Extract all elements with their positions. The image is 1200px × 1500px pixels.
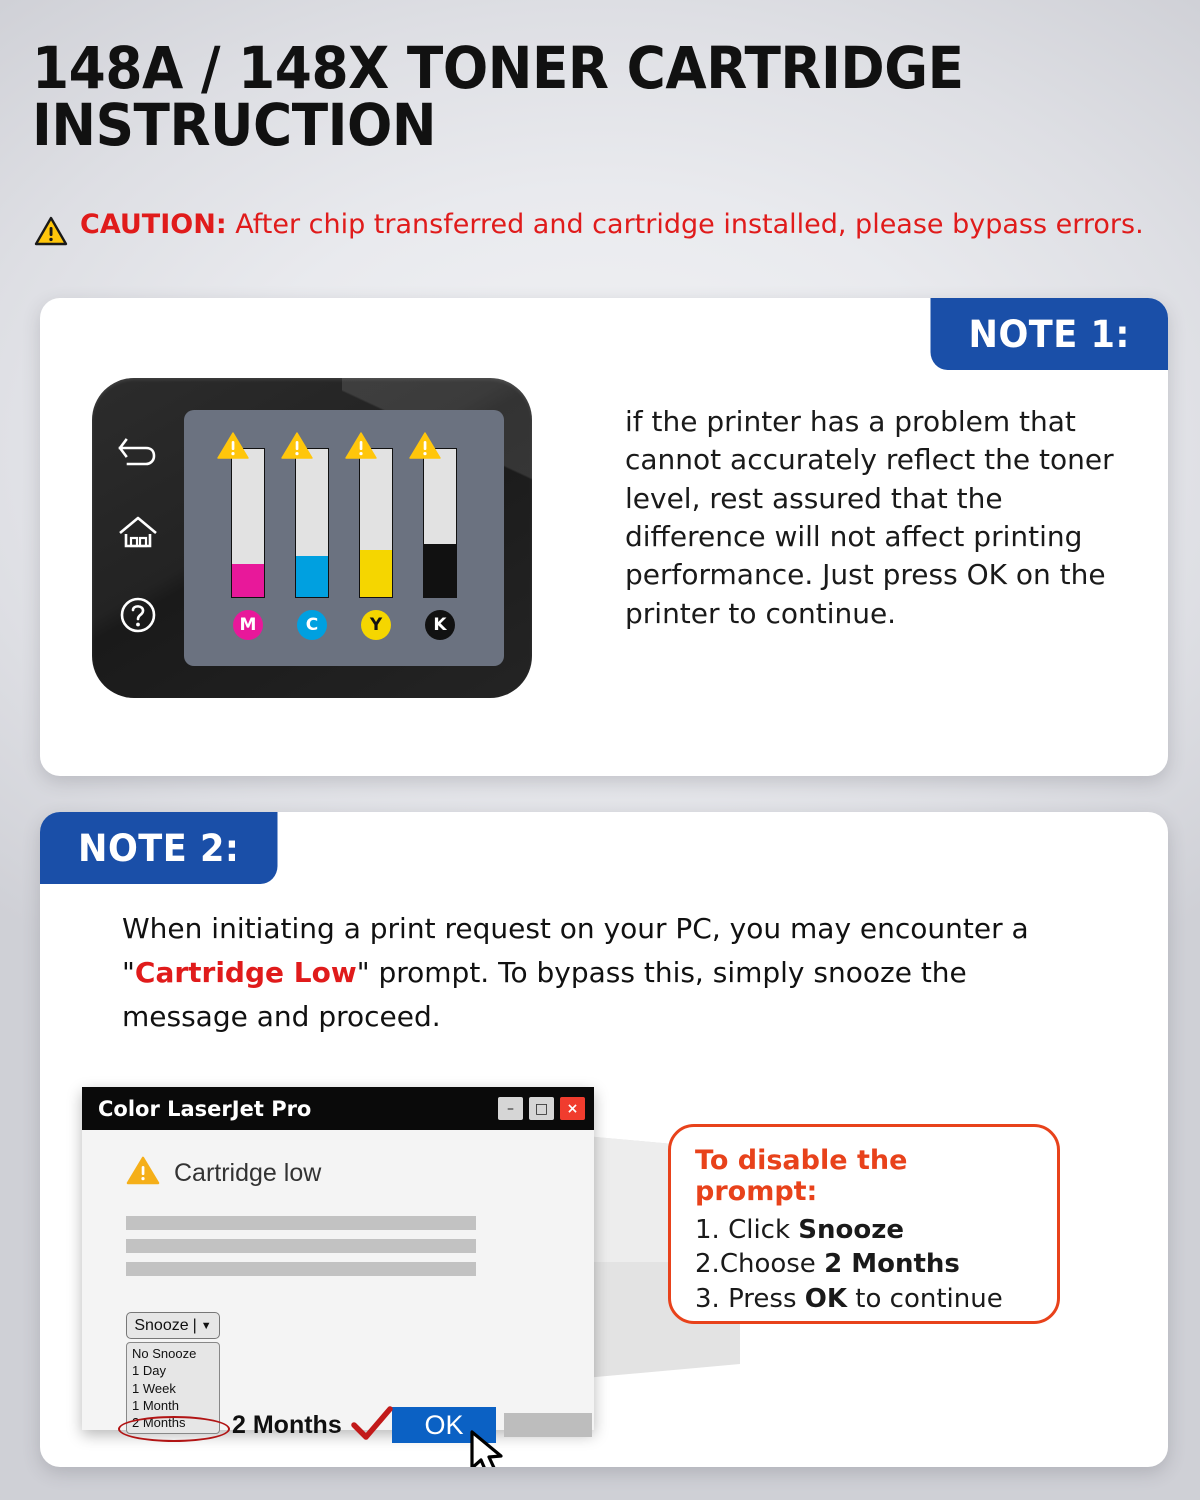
callout-step-2: 2.Choose 2 Months	[695, 1247, 1033, 1281]
callout-step-1: 1. Click Snooze	[695, 1213, 1033, 1247]
placeholder-line	[126, 1262, 476, 1276]
printer-screen: M C	[184, 410, 504, 666]
toner-label-dot: Y	[361, 610, 391, 640]
alert-text: Cartridge low	[174, 1159, 321, 1188]
home-icon[interactable]	[116, 513, 160, 557]
step-emphasis: 2 Months	[824, 1249, 960, 1279]
back-icon[interactable]	[116, 436, 160, 476]
toner-gauge-row: M C	[184, 410, 504, 666]
toner-gauge-yellow: Y	[355, 448, 397, 640]
cartridge-low-dialog: Color LaserJet Pro – □ × Cartridge low	[82, 1087, 594, 1430]
selection-highlight-ellipse	[118, 1416, 230, 1442]
note-1-card: NOTE 1:	[40, 298, 1168, 776]
chevron-down-icon: ▼	[201, 1320, 212, 1332]
printer-control-panel: M C	[92, 378, 532, 698]
caution-banner: CAUTION: After chip transferred and cart…	[34, 210, 1164, 250]
toner-code: C	[306, 615, 318, 635]
dialog-title: Color LaserJet Pro	[98, 1097, 492, 1121]
minimize-icon[interactable]: –	[498, 1097, 523, 1120]
placeholder-line	[126, 1239, 476, 1253]
check-mark-icon	[350, 1406, 394, 1448]
toner-code: K	[433, 615, 446, 635]
note-2-card: NOTE 2: When initiating a print request …	[40, 812, 1168, 1467]
placeholder-text-block	[104, 1216, 572, 1276]
placeholder-line	[126, 1216, 476, 1230]
step-emphasis: OK	[805, 1284, 847, 1314]
toner-level-fill	[232, 564, 264, 597]
toner-label-dot: C	[297, 610, 327, 640]
cartridge-low-highlight: Cartridge Low	[135, 956, 357, 989]
page-header: 148A / 148X TONER CARTRIDGE INSTRUCTION	[32, 40, 1172, 154]
maximize-icon[interactable]: □	[529, 1097, 554, 1120]
toner-label-dot: M	[233, 610, 263, 640]
caution-text: CAUTION: After chip transferred and cart…	[80, 210, 1144, 240]
note-1-badge: NOTE 1:	[931, 298, 1169, 370]
toner-gauge-black: K	[419, 448, 461, 640]
toner-gauge-magenta: M	[227, 448, 269, 640]
warning-triangle-icon	[408, 431, 442, 465]
snooze-option-1-week[interactable]: 1 Week	[127, 1380, 219, 1397]
toner-level-fill	[360, 550, 392, 597]
note-2-body-text: When initiating a print request on your …	[122, 907, 1042, 1040]
help-icon[interactable]	[117, 594, 159, 640]
snooze-option-no-snooze[interactable]: No Snooze	[127, 1345, 219, 1362]
step-text: Click	[728, 1215, 798, 1245]
dialog-body: Cartridge low Snooze | ▼ No Snooze 1 Day…	[82, 1130, 594, 1430]
toner-bar	[423, 448, 457, 598]
note-1-body-text: if the printer has a problem that cannot…	[625, 403, 1125, 633]
toner-gauge-cyan: C	[291, 448, 333, 640]
step-text: Press	[728, 1284, 805, 1314]
note-2-badge: NOTE 2:	[40, 812, 278, 884]
step-text: Choose	[720, 1249, 824, 1279]
selected-option-annotation: 2 Months	[232, 1411, 342, 1440]
snooze-dropdown-button[interactable]: Snooze | ▼	[126, 1312, 220, 1339]
caution-body: After chip transferred and cartridge ins…	[227, 209, 1144, 240]
secondary-button-placeholder[interactable]	[504, 1413, 592, 1437]
dialog-titlebar: Color LaserJet Pro – □ ×	[82, 1087, 594, 1130]
step-number: 3.	[695, 1284, 728, 1314]
toner-level-fill	[424, 544, 456, 597]
alert-row: Cartridge low	[126, 1156, 572, 1190]
warning-triangle-icon	[126, 1156, 160, 1190]
dropdown-divider: |	[193, 1317, 197, 1335]
printer-key-column	[92, 390, 184, 686]
toner-code: Y	[370, 615, 382, 635]
disable-prompt-callout: To disable the prompt: 1. Click Snooze 2…	[668, 1124, 1060, 1324]
step-number: 2.	[695, 1249, 720, 1279]
step-tail: to continue	[847, 1284, 1003, 1314]
toner-label-dot: K	[425, 610, 455, 640]
close-icon[interactable]: ×	[560, 1097, 585, 1120]
warning-triangle-icon	[280, 431, 314, 465]
toner-bar	[231, 448, 265, 598]
mouse-pointer-icon	[468, 1430, 510, 1467]
snooze-dropdown-label: Snooze	[134, 1317, 188, 1335]
step-emphasis: Snooze	[798, 1215, 904, 1245]
callout-title: To disable the prompt:	[695, 1145, 1033, 1207]
warning-triangle-icon	[344, 431, 378, 465]
toner-level-fill	[296, 556, 328, 597]
callout-step-3: 3. Press OK to continue	[695, 1282, 1033, 1316]
toner-bar	[359, 448, 393, 598]
snooze-option-1-day[interactable]: 1 Day	[127, 1362, 219, 1379]
caution-label: CAUTION:	[80, 209, 227, 240]
warning-triangle-icon	[216, 431, 250, 465]
page-title: 148A / 148X TONER CARTRIDGE INSTRUCTION	[32, 40, 1081, 154]
step-number: 1.	[695, 1215, 728, 1245]
snooze-option-1-month[interactable]: 1 Month	[127, 1397, 219, 1414]
toner-code: M	[240, 615, 257, 635]
warning-triangle-icon	[34, 216, 68, 250]
toner-bar	[295, 448, 329, 598]
